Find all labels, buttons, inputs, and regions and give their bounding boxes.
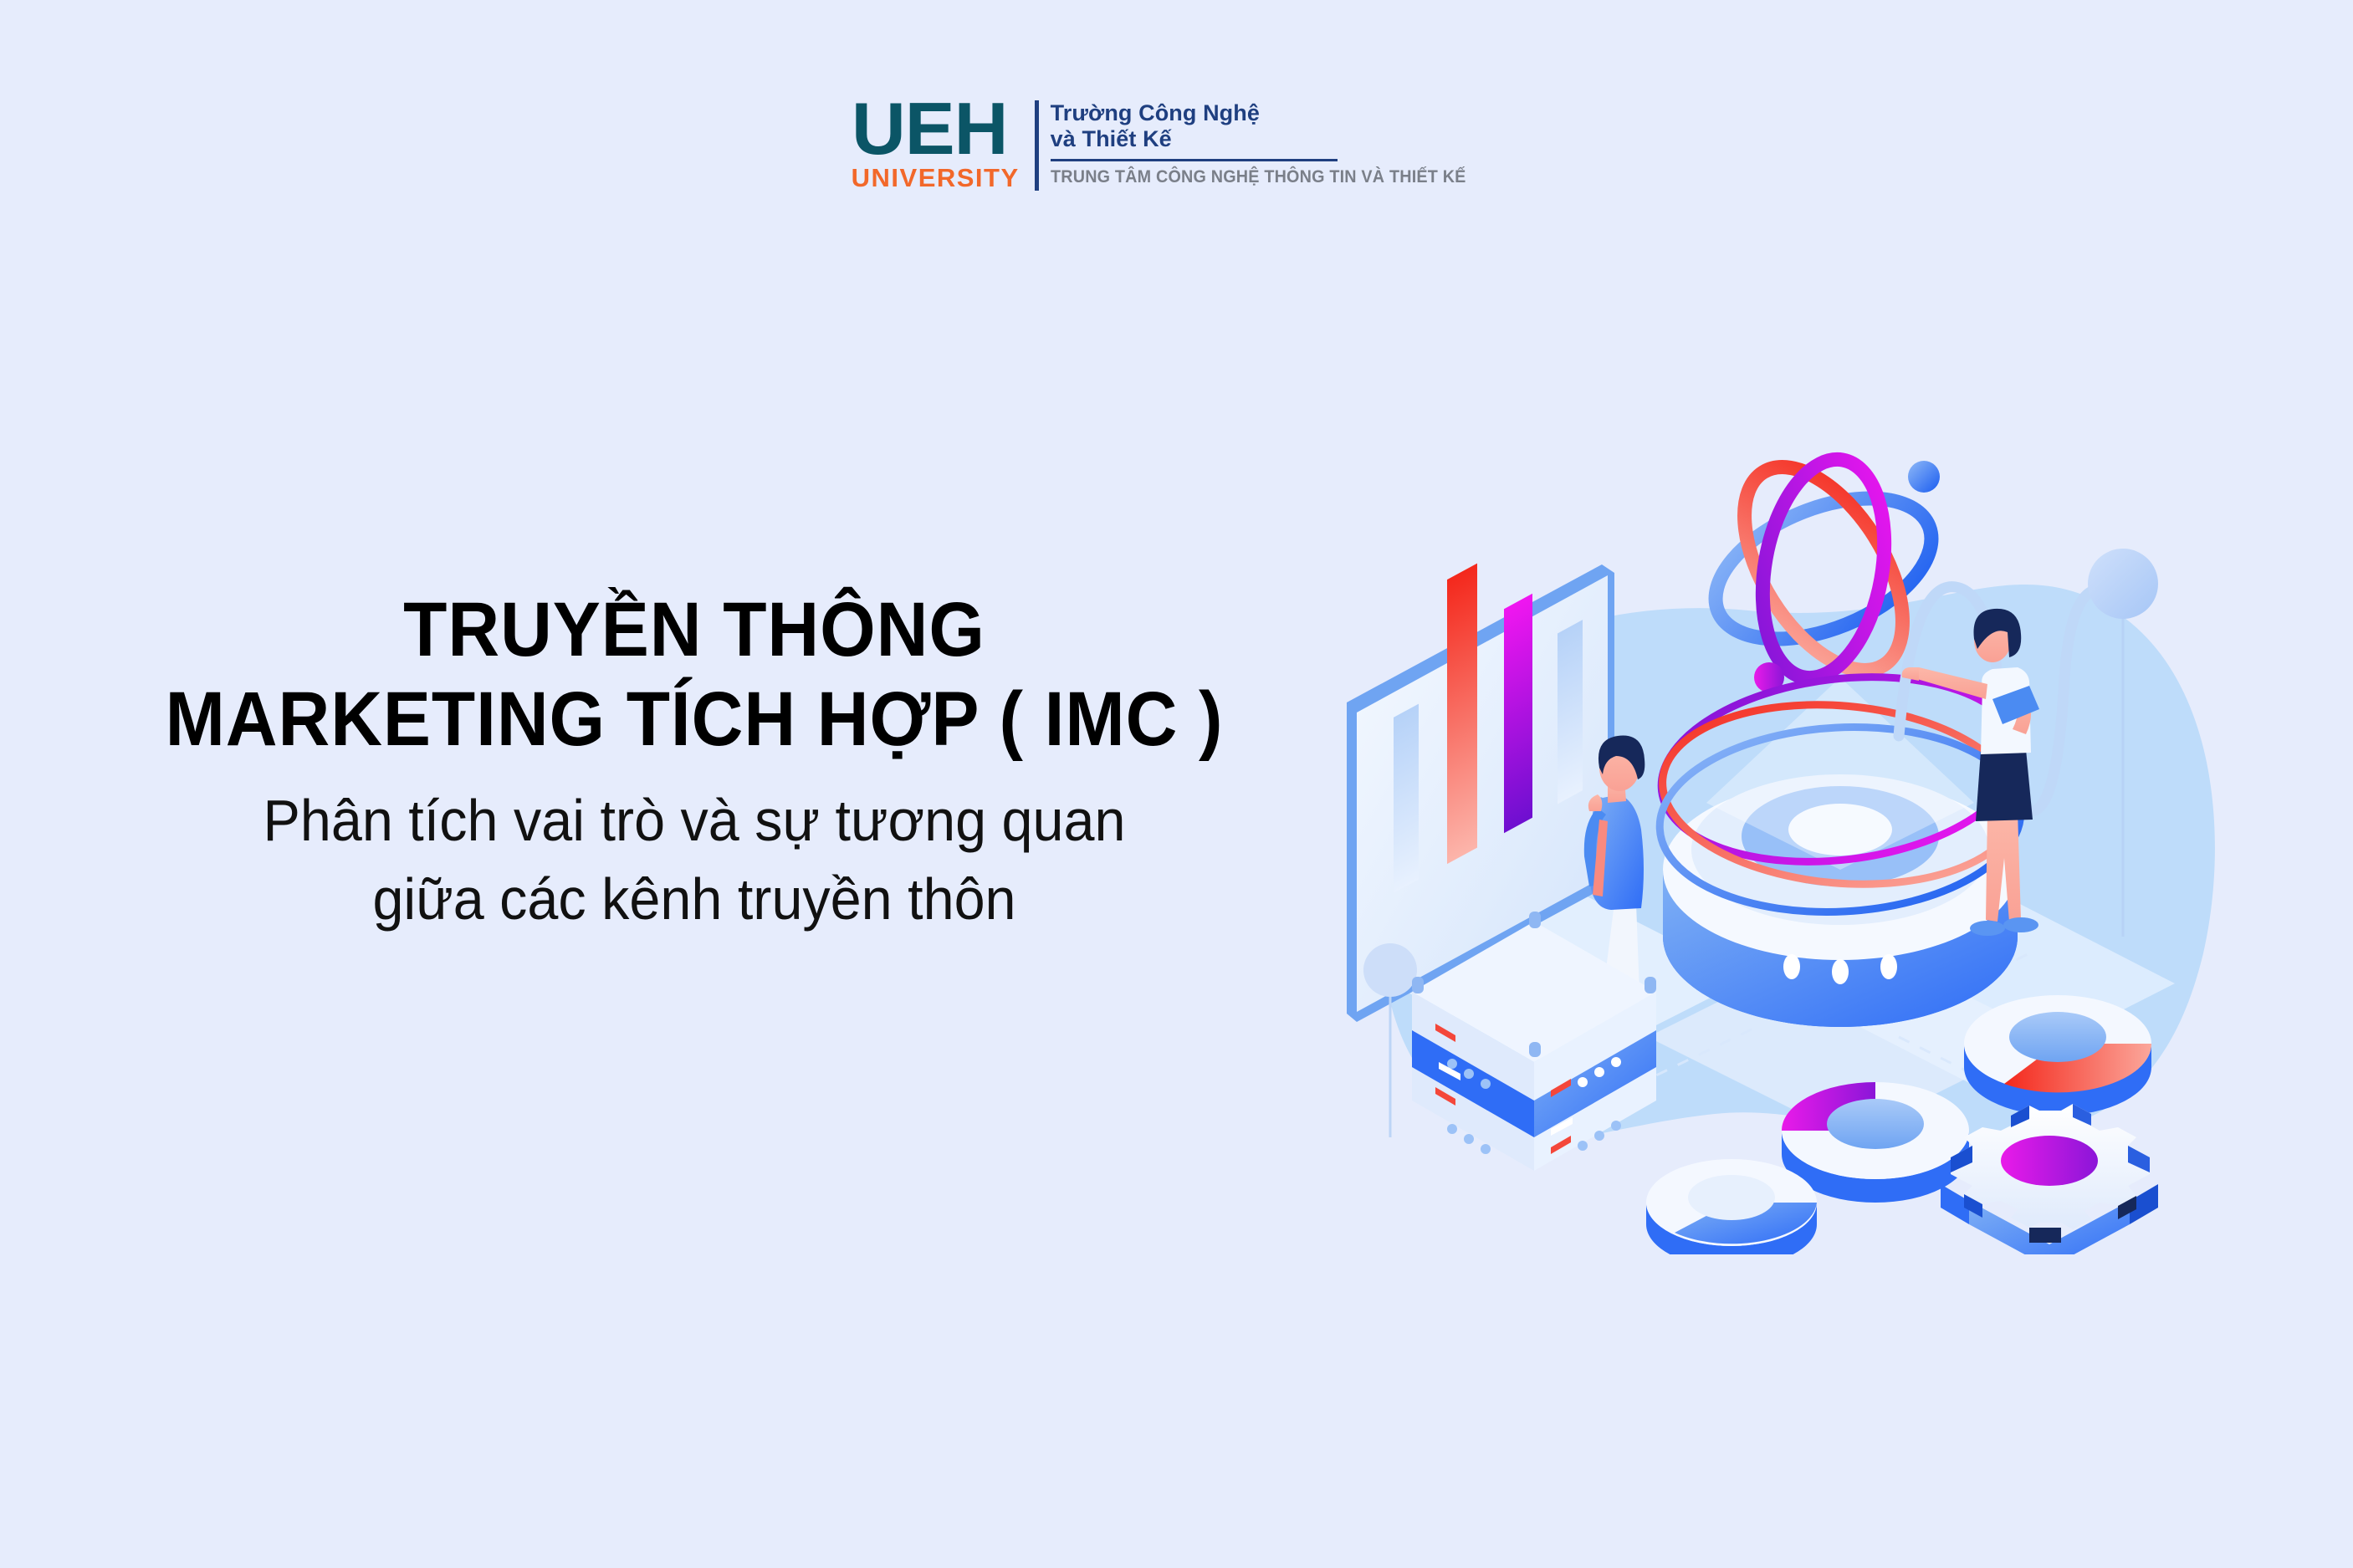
- bar-4: [1558, 620, 1583, 804]
- atom-dot-blue: [1908, 461, 1940, 493]
- ueh-letters: UEH: [852, 97, 1007, 161]
- subtitle-line-1: Phân tích vai trò và sự tương quan: [130, 782, 1259, 861]
- woman-shoe-right: [2003, 917, 2038, 932]
- page-subtitle: Phân tích vai trò và sự tương quan giữa …: [100, 782, 1288, 939]
- donut-chart-red: [1964, 995, 2151, 1116]
- woman-skirt: [1976, 749, 2033, 821]
- title-line-2: MARKETING TÍCH HỢP ( IMC ): [142, 675, 1247, 764]
- school-name-line-1: Trường Công Nghệ: [1051, 100, 1502, 126]
- woman-shoe-left: [1970, 921, 2005, 936]
- bar-1: [1394, 704, 1419, 893]
- subtitle-line-2: giữa các kênh truyền thôn: [130, 861, 1259, 939]
- school-name-line-2: và Thiết Kế: [1051, 126, 1502, 152]
- isometric-data-analytics-illustration: [1313, 401, 2242, 1254]
- bar-3: [1504, 594, 1532, 833]
- screen-node-dot: [1363, 943, 1417, 997]
- center-name: TRUNG TÂM CÔNG NGHỆ THÔNG TIN VÀ THIẾT K…: [1051, 166, 1466, 187]
- page-title: TRUYỀN THÔNG MARKETING TÍCH HỢP ( IMC ): [100, 585, 1288, 764]
- ueh-wordmark: UEH UNIVERSITY: [852, 97, 1020, 191]
- title-line-1: TRUYỀN THÔNG: [142, 585, 1247, 675]
- hero-text-block: TRUYỀN THÔNG MARKETING TÍCH HỢP ( IMC ) …: [100, 585, 1288, 939]
- gear-center: [2001, 1136, 2098, 1186]
- logo-bar: UEH UNIVERSITY Trường Công Nghệ và Thiết…: [0, 97, 2353, 191]
- ueh-university-logo: UEH UNIVERSITY Trường Công Nghệ và Thiết…: [852, 97, 1502, 191]
- donut-chart-blue: [1646, 1159, 1817, 1254]
- logo-rule: [1051, 159, 1338, 161]
- logo-text-block: Trường Công Nghệ và Thiết Kế TRUNG TÂM C…: [1051, 97, 1502, 187]
- bar-2: [1447, 564, 1477, 865]
- logo-divider: [1035, 100, 1039, 191]
